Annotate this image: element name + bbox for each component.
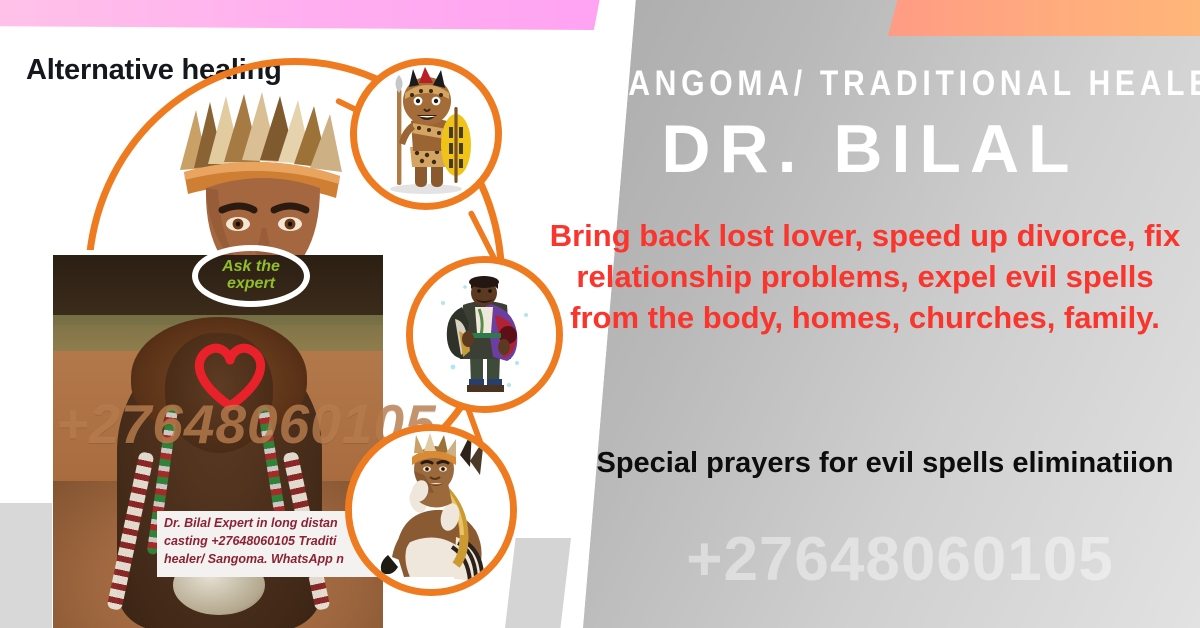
pink-accent-bar (0, 0, 600, 30)
zulu-warrior-illustration (350, 58, 502, 210)
watermark-phone-number: +27648060105 (600, 524, 1200, 595)
ask-the-expert-bubble: Ask the expert (192, 245, 310, 307)
caption-line-3: healer/ Sangoma. WhatsApp n (164, 551, 379, 569)
special-prayers-text: Special prayers for evil spells eliminat… (580, 444, 1190, 483)
kicker-heading: SANGOMA/ TRADITIONAL HEALER (603, 64, 1136, 104)
poster-canvas: Alternative healing (0, 0, 1200, 628)
healer-name-heading: DR. BILAL (560, 110, 1180, 188)
services-text: Bring back lost lover, speed up divorce,… (540, 215, 1190, 339)
crouching-sangoma-illustration (345, 424, 517, 596)
gray-band-bottom-left (0, 503, 56, 628)
bubble-label: Ask the expert (198, 259, 304, 293)
orange-accent-bar (888, 0, 1200, 36)
gray-accent-chip (505, 538, 571, 628)
caption-line-2: casting +27648060105 Traditi (164, 533, 379, 551)
